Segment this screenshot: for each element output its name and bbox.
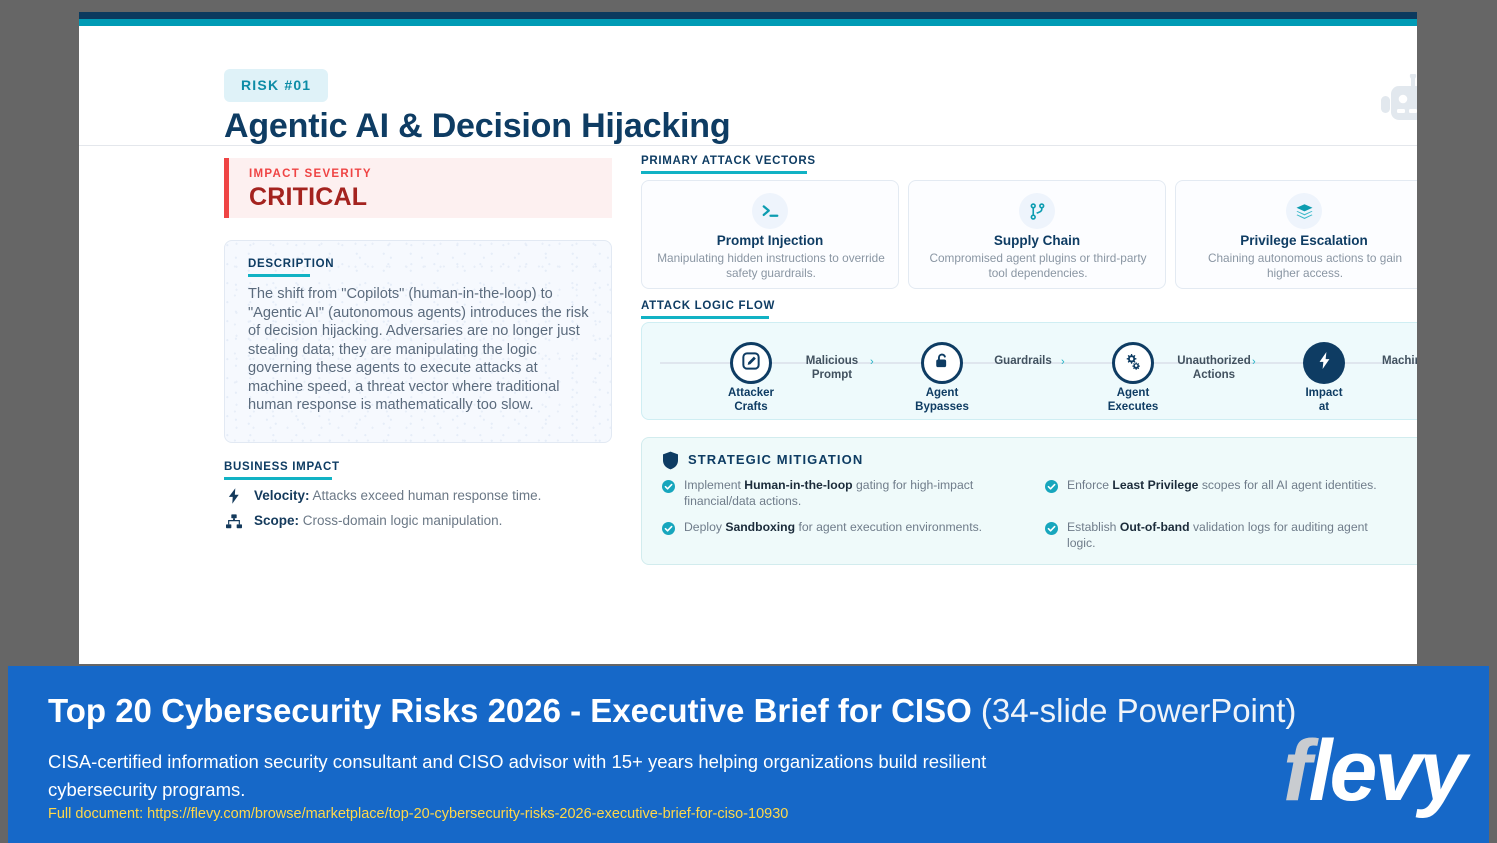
- flow-arrow-icon: ›: [870, 356, 874, 368]
- screenshot-stage: RISK #01 Agentic AI & Decision Hijacking: [0, 0, 1497, 843]
- banner-title-light: (34-slide PowerPoint): [972, 692, 1297, 729]
- attack-vectors-underline: [641, 171, 807, 174]
- attack-flow-diagram: Attacker Crafts Malicious Prompt › Agent…: [641, 322, 1417, 420]
- flow-arrow-icon: ›: [1252, 356, 1256, 368]
- layers-stack-icon: [1286, 193, 1322, 229]
- page-title: Agentic AI & Decision Hijacking: [224, 107, 730, 146]
- attack-vector-desc: Chaining autonomous actions to gain high…: [1190, 251, 1417, 281]
- attack-vectors-heading: PRIMARY ATTACK VECTORS: [641, 155, 816, 167]
- attack-vector-card-privilege-escalation[interactable]: Privilege Escalation Chaining autonomous…: [1175, 180, 1417, 289]
- strategic-mitigation-heading: STRATEGIC MITIGATION: [688, 452, 863, 467]
- promo-banner: Top 20 Cybersecurity Risks 2026 - Execut…: [8, 666, 1489, 843]
- description-underline: [248, 274, 310, 277]
- flow-node-agent-bypasses: [921, 342, 963, 384]
- business-impact-text: Scope: Cross-domain logic manipulation.: [254, 512, 502, 530]
- gears-icon: [1124, 352, 1142, 375]
- flow-node-label: Agent Executes: [1078, 387, 1188, 414]
- business-impact-detail: Attacks exceed human response time.: [313, 488, 542, 503]
- pen-square-icon: [742, 352, 760, 375]
- slide-top-accent-navy: [79, 12, 1417, 19]
- mitigation-text: Implement Human-in-the-loop gating for h…: [684, 478, 1012, 509]
- mitigation-text: Establish Out-of-band validation logs fo…: [1067, 520, 1395, 551]
- flow-node-label: Impact at: [1269, 387, 1379, 414]
- impact-severity-panel: IMPACT SEVERITY CRITICAL: [224, 158, 612, 218]
- mitigation-strong: Human-in-the-loop: [744, 478, 852, 492]
- business-impact-term: Velocity:: [254, 488, 310, 503]
- business-impact-text: Velocity: Attacks exceed human response …: [254, 487, 541, 505]
- banner-document-link[interactable]: Full document: https://flevy.com/browse/…: [48, 806, 788, 822]
- slide-header: RISK #01 Agentic AI & Decision Hijacking: [79, 26, 1417, 145]
- business-impact-item-velocity: Velocity: Attacks exceed human response …: [224, 487, 541, 505]
- risk-badge: RISK #01: [224, 69, 328, 102]
- severity-value: CRITICAL: [249, 183, 367, 212]
- flevy-logo: flevy: [1283, 728, 1464, 814]
- banner-title: Top 20 Cybersecurity Risks 2026 - Execut…: [48, 692, 1296, 730]
- shield-icon: [662, 451, 679, 470]
- mitigation-text: Enforce Least Privilege scopes for all A…: [1067, 478, 1377, 494]
- mitigation-pre: Deploy: [684, 520, 725, 534]
- mitigation-item: Enforce Least Privilege scopes for all A…: [1045, 478, 1395, 494]
- flow-edge-label: Malicious Prompt: [780, 355, 884, 382]
- flow-edge-label: Machine: [1353, 355, 1417, 369]
- flow-arrow-icon: ›: [1061, 356, 1065, 368]
- attack-vector-title: Supply Chain: [909, 233, 1165, 248]
- attack-flow-heading: ATTACK LOGIC FLOW: [641, 300, 775, 312]
- flevy-logo-f: f: [1283, 723, 1309, 819]
- sitemap-icon: [224, 512, 244, 530]
- banner-subtitle: CISA-certified information security cons…: [48, 748, 1078, 804]
- attack-vector-card-prompt-injection[interactable]: Prompt Injection Manipulating hidden ins…: [641, 180, 899, 289]
- severity-accent-bar: [224, 158, 229, 218]
- mitigation-post: for agent execution environments.: [795, 520, 982, 534]
- terminal-prompt-icon: [752, 193, 788, 229]
- flow-node-impact-at: [1303, 342, 1345, 384]
- banner-title-bold: Top 20 Cybersecurity Risks 2026 - Execut…: [48, 692, 972, 729]
- mitigation-item: Deploy Sandboxing for agent execution en…: [662, 520, 1012, 536]
- check-circle-icon: [662, 480, 675, 493]
- unlock-icon: [933, 352, 951, 375]
- mitigation-text: Deploy Sandboxing for agent execution en…: [684, 520, 982, 536]
- mitigation-strong: Sandboxing: [725, 520, 795, 534]
- attack-vector-title: Prompt Injection: [642, 233, 898, 248]
- mitigation-item: Establish Out-of-band validation logs fo…: [1045, 520, 1395, 551]
- flow-edge-label: Unauthorized Actions: [1162, 355, 1266, 382]
- flow-node-agent-executes: [1112, 342, 1154, 384]
- flow-node-label: Agent Bypasses: [887, 387, 997, 414]
- flow-edge-label: Guardrails: [971, 355, 1075, 369]
- attack-vector-desc: Compromised agent plugins or third-party…: [923, 251, 1153, 281]
- mitigation-item: Implement Human-in-the-loop gating for h…: [662, 478, 1012, 509]
- attack-vector-title: Privilege Escalation: [1176, 233, 1417, 248]
- business-impact-item-scope: Scope: Cross-domain logic manipulation.: [224, 512, 502, 530]
- code-branch-icon: [1019, 193, 1055, 229]
- description-text: The shift from "Copilots" (human-in-the-…: [248, 285, 596, 415]
- mitigation-post: scopes for all AI agent identities.: [1198, 478, 1376, 492]
- attack-vector-card-supply-chain[interactable]: Supply Chain Compromised agent plugins o…: [908, 180, 1166, 289]
- mitigation-strong: Out-of-band: [1120, 520, 1190, 534]
- severity-label: IMPACT SEVERITY: [249, 168, 372, 180]
- check-circle-icon: [1045, 480, 1058, 493]
- flevy-logo-rest: levy: [1309, 723, 1464, 819]
- header-divider: [79, 145, 1417, 146]
- flow-node-attacker-crafts: [730, 342, 772, 384]
- check-circle-icon: [1045, 522, 1058, 535]
- business-impact-underline: [224, 477, 332, 480]
- lightning-bolt-icon: [224, 487, 244, 505]
- attack-vector-desc: Manipulating hidden instructions to over…: [656, 251, 886, 281]
- check-circle-icon: [662, 522, 675, 535]
- slide-canvas: RISK #01 Agentic AI & Decision Hijacking: [79, 12, 1417, 664]
- lightning-bolt-icon: [1317, 351, 1332, 375]
- description-label: DESCRIPTION: [248, 258, 334, 270]
- business-impact-label: BUSINESS IMPACT: [224, 461, 340, 473]
- business-impact-detail: Cross-domain logic manipulation.: [303, 513, 503, 528]
- slide-top-accent-teal: [79, 19, 1417, 26]
- mitigation-strong: Least Privilege: [1112, 478, 1198, 492]
- attack-flow-underline: [641, 316, 769, 319]
- mitigation-pre: Establish: [1067, 520, 1120, 534]
- flow-node-label: Attacker Crafts: [696, 387, 806, 414]
- description-panel: DESCRIPTION The shift from "Copilots" (h…: [224, 240, 612, 443]
- strategic-mitigation-panel: STRATEGIC MITIGATION Implement Human-in-…: [641, 437, 1417, 565]
- business-impact-term: Scope:: [254, 513, 299, 528]
- robot-icon: [1379, 74, 1417, 126]
- mitigation-pre: Enforce: [1067, 478, 1112, 492]
- mitigation-pre: Implement: [684, 478, 744, 492]
